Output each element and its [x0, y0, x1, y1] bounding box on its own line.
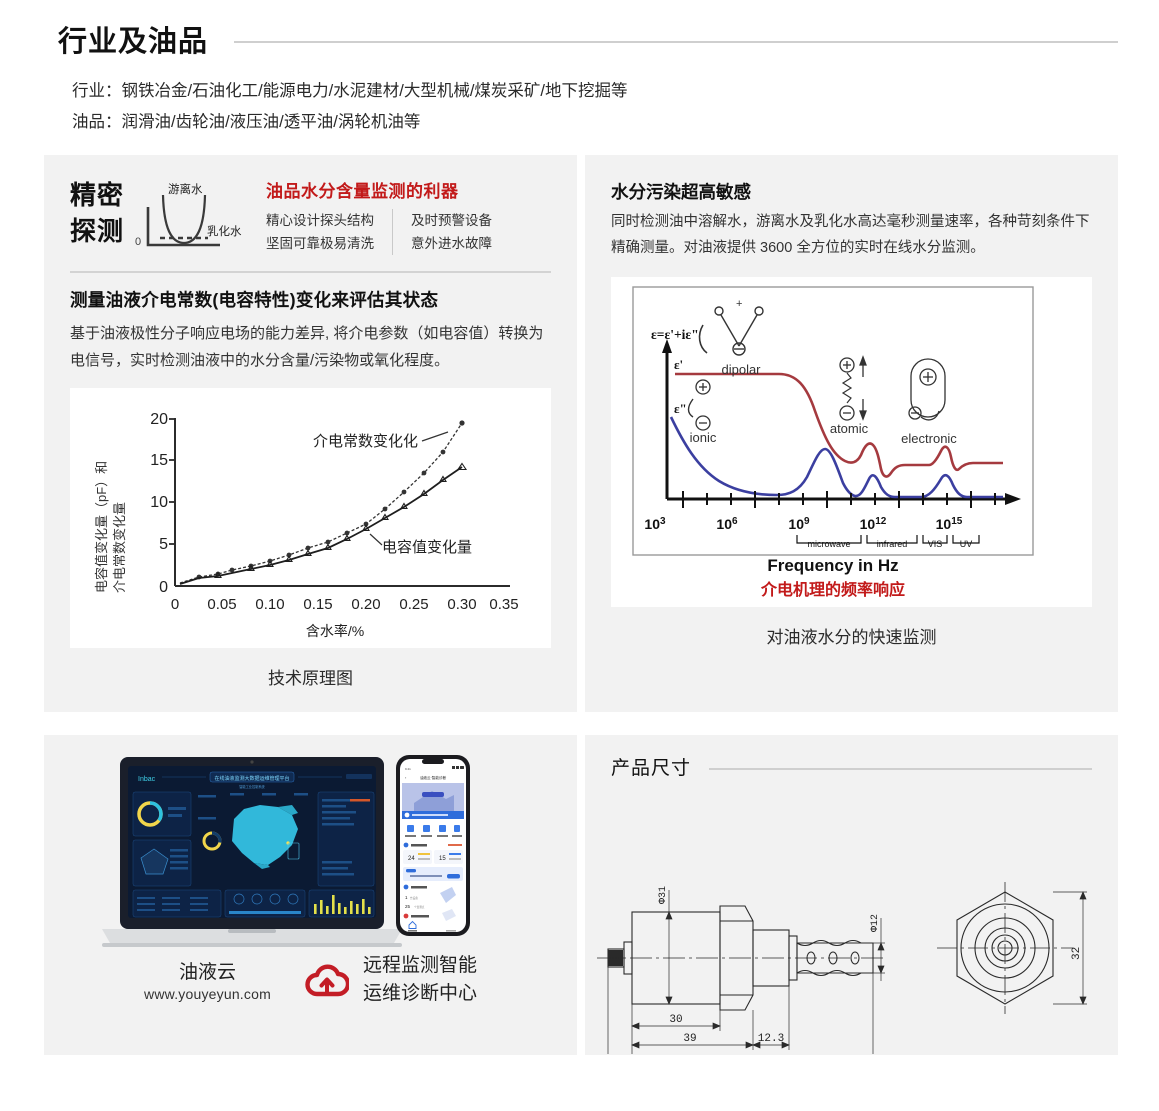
ytick-15: 15 — [150, 452, 168, 469]
sensitivity-body: 同时检测油中溶解水，游离水及乳化水高达毫秒测量速率，各种苛刻条件下精确测量。对油… — [611, 209, 1092, 261]
xtick-015: 0.15 — [303, 596, 332, 613]
feature-item: 坚固可靠极易清洗 — [266, 232, 374, 255]
feature-item: 意外进水故障 — [411, 232, 492, 255]
water-curve-figure: 0 游离水 乳化水 — [134, 181, 252, 257]
feature-item: 及时预警设备 — [411, 209, 492, 232]
industry-line: 行业：钢铁冶金/石油化工/能源电力/水泥建材/大型机械/煤炭采矿/地下挖掘等 — [72, 76, 1118, 107]
svg-text:24: 24 — [408, 856, 415, 862]
dashboard-logo: Inbac — [138, 776, 156, 783]
measurement-body: 基于油液极性分子响应电场的能力差异, 将介电参数（如电容值）转换为电信号，实时检… — [70, 320, 551, 374]
remote-service-block: 远程监测智能 运维诊断中心 — [305, 952, 477, 1008]
ytick-20: 20 — [150, 411, 168, 428]
xtick-005: 0.05 — [207, 596, 236, 613]
dim-probe-diameter: Φ12 — [870, 914, 881, 932]
series-capacitance-markers — [215, 464, 466, 578]
product-dimension-drawing: Φ31 Φ12 30 — [585, 786, 1118, 1054]
phone-mockup: 9:41 油液云·智能诊断 ‹ 24 15 — [394, 753, 472, 938]
band-microwave: microwave — [807, 539, 850, 549]
remote-line-1: 远程监测智能 — [363, 952, 477, 980]
svg-text:25: 25 — [405, 904, 411, 909]
measurement-subtitle: 测量油液介电常数(电容特性)变化来评估其状态 — [70, 287, 551, 312]
precision-block: 精密 探测 0 游离水 乳化水 油品水分含量监测的利器 精心设计探头结构 坚固可… — [44, 155, 577, 257]
oil-type-line: 油品：润滑油/齿轮油/液压油/透平油/涡轮机油等 — [72, 107, 1118, 138]
series-capacitance — [180, 467, 462, 584]
svg-text:+: + — [736, 298, 742, 310]
dim-hex-across-flats: 32 — [1071, 947, 1083, 960]
dashboard-title: 在线油液监测大数据运维管理平台 — [214, 775, 289, 782]
frequency-axis-title: Frequency in Hz — [767, 556, 898, 575]
remote-service-text: 远程监测智能 运维诊断中心 — [363, 952, 477, 1008]
principle-caption: 技术原理图 — [44, 664, 577, 689]
dimensions-divider — [709, 768, 1092, 770]
annotation-dipolar: dipolar — [721, 362, 761, 377]
phone-header-title: 油液云·智能诊断 — [420, 775, 447, 780]
panel-moisture-sensitivity: 水分污染超高敏感 同时检测油中溶解水，游离水及乳化水高达毫秒测量速率，各种苛刻条… — [585, 155, 1118, 712]
svg-text:15: 15 — [439, 856, 446, 862]
header-divider — [234, 41, 1118, 43]
ytick-5: 5 — [159, 536, 168, 553]
sensitivity-caption: 对油液水分的快速监测 — [585, 623, 1118, 648]
principle-chart-card: 电容值变化量（pF）和 介电常数变化量 20 15 10 5 0 0 — [70, 388, 551, 648]
panel-precision-detection: 精密 探测 0 游离水 乳化水 油品水分含量监测的利器 精心设计探头结构 坚固可… — [44, 155, 577, 712]
feature-column-2: 及时预警设备 意外进水故障 — [392, 209, 492, 255]
precision-headline: 油品水分含量监测的利器 — [266, 177, 492, 202]
brand-name: 油液云 — [144, 959, 271, 986]
permittivity-formula: ε=ε'+iε" — [651, 327, 699, 342]
chart-ylabel-2: 介电常数变化量 — [112, 502, 127, 593]
xtick-025: 0.25 — [399, 596, 428, 613]
svg-text:个监测点: 个监测点 — [414, 905, 425, 909]
annotation-atomic: atomic — [830, 421, 869, 436]
curve-origin-label: 0 — [135, 236, 141, 248]
band-uv: UV — [960, 539, 973, 549]
remote-line-2: 运维诊断中心 — [363, 980, 477, 1008]
panel-cloud-platform: Inbac 在线油液监测大数据运维管理平台 智能工业控制系统 — [44, 735, 577, 1055]
annotation-dielectric: 介电常数变化化 — [313, 433, 418, 450]
ytick-10: 10 — [150, 494, 168, 511]
dim-body-diameter: Φ31 — [658, 886, 669, 904]
dielectric-frequency-chart: ε=ε'+iε" ε' ε" — [611, 277, 1092, 607]
svg-text:台设备: 台设备 — [410, 896, 418, 900]
xtick-020: 0.20 — [351, 596, 380, 613]
dim-length-to-hex: 39 — [683, 1033, 696, 1045]
precision-title: 精密 探测 — [70, 177, 124, 249]
cloud-footer: 油液云 www.youyeyun.com 远程监测智能 运维诊断中心 — [44, 952, 577, 1008]
frequency-response-card: ε=ε'+iε" ε' ε" — [611, 277, 1092, 607]
device-mockup: Inbac 在线油液监测大数据运维管理平台 智能工业控制系统 — [44, 735, 577, 950]
dashboard-subtitle: 智能工业控制系统 — [239, 784, 265, 789]
ytick-0: 0 — [159, 579, 168, 596]
band-infrared: infrared — [877, 539, 908, 549]
cloud-upload-icon — [305, 962, 349, 998]
page-header: 行业及油品 行业：钢铁冶金/石油化工/能源电力/水泥建材/大型机械/煤炭采矿/地… — [58, 18, 1118, 138]
brand-block: 油液云 www.youyeyun.com — [144, 959, 271, 1002]
laptop-mockup: Inbac 在线油液监测大数据运维管理平台 智能工业控制系统 — [102, 757, 402, 953]
panel-product-dimensions: 产品尺寸 — [585, 735, 1118, 1055]
band-vis: VIS — [928, 539, 943, 549]
page-title: 行业及油品 — [58, 18, 208, 60]
emulsified-water-label: 乳化水 — [207, 224, 242, 238]
feature-item: 精心设计探头结构 — [266, 209, 374, 232]
free-water-label: 游离水 — [168, 182, 203, 196]
annotation-ionic: ionic — [690, 430, 717, 445]
dim-body-length: 30 — [669, 1014, 682, 1026]
brand-url[interactable]: www.youyeyun.com — [144, 986, 271, 1002]
annotation-capacitance: 电容值变化量 — [382, 539, 472, 556]
feature-column-1: 精心设计探头结构 坚固可靠极易清洗 — [266, 209, 374, 255]
section-divider — [70, 271, 551, 273]
xtick-035: 0.35 — [489, 596, 518, 613]
precision-title-line2: 探测 — [70, 213, 124, 249]
capacitance-chart: 电容值变化量（pF）和 介电常数变化量 20 15 10 5 0 0 — [70, 388, 551, 648]
frequency-figure-caption: 介电机理的频率响应 — [760, 580, 905, 599]
sensitivity-title: 水分污染超高敏感 — [611, 179, 1092, 204]
precision-title-line1: 精密 — [70, 177, 124, 213]
xtick-0: 0 — [171, 596, 179, 613]
chart-ylabel-1: 电容值变化量（pF）和 — [94, 461, 109, 593]
dimensions-title: 产品尺寸 — [611, 753, 691, 780]
epsilon-real-label: ε' — [674, 357, 683, 372]
epsilon-imag-label: ε" — [674, 401, 687, 416]
annotation-electronic: electronic — [901, 431, 957, 446]
xtick-010: 0.10 — [255, 596, 284, 613]
chart-xlabel: 含水率/% — [306, 623, 364, 639]
xtick-030: 0.30 — [447, 596, 476, 613]
dim-step-length: 12.3 — [758, 1033, 784, 1045]
svg-text:9:41: 9:41 — [405, 767, 411, 771]
